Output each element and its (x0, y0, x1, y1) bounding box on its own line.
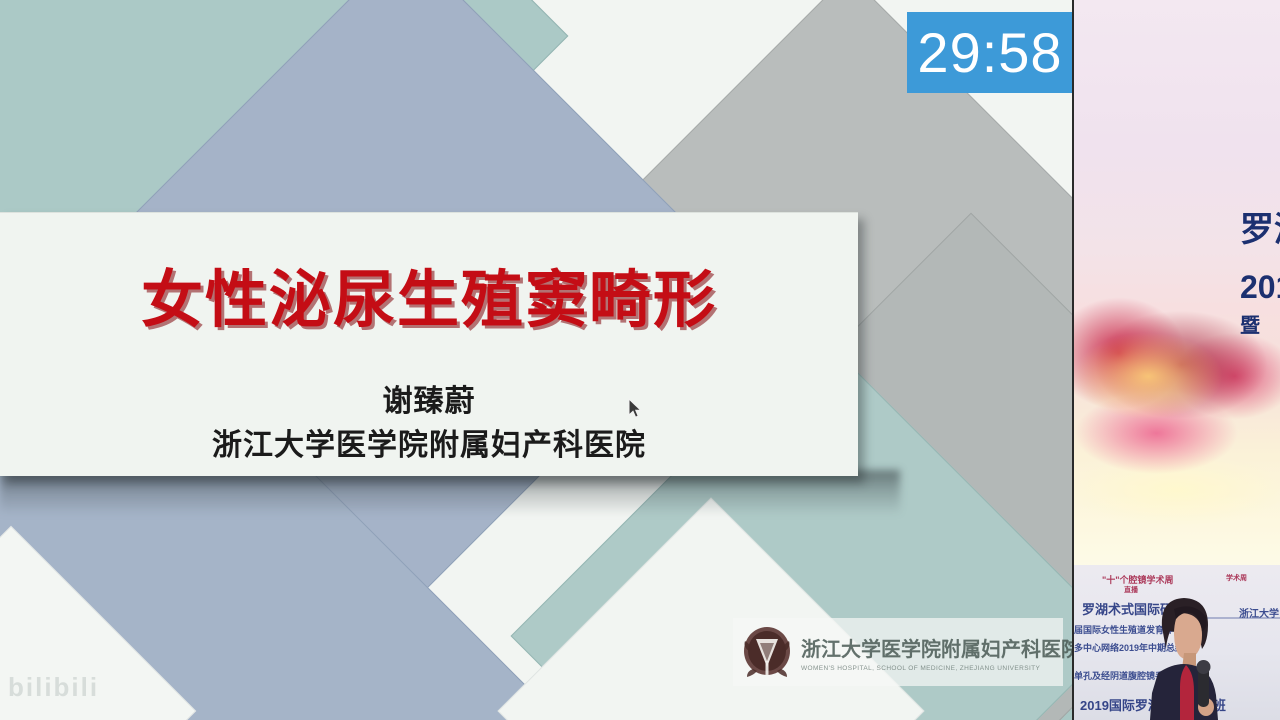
countdown-timer-value: 29:58 (917, 20, 1062, 85)
poster-title-main: 罗湖 (1240, 210, 1280, 250)
presentation-slide: 女性泌尿生殖窦畸形 谢臻蔚 浙江大学医学院附属妇产科医院 (0, 0, 1072, 720)
hospital-logo-badge: 浙江大学医学院附属妇产科医院 WOMEN'S HOSPITAL, SCHOOL … (733, 618, 1063, 686)
presenter-name-text: 谢臻蔚 (0, 376, 858, 420)
countdown-timer-badge: 29:58 (907, 12, 1073, 93)
video-player-screen: 女性泌尿生殖窦畸形 谢臻蔚 浙江大学医学院附属妇产科医院 (0, 0, 1280, 720)
presenter-with-microphone-icon (1136, 591, 1228, 720)
hospital-name-cn: 浙江大学医学院附属妇产科医院 (801, 633, 1072, 662)
presenter-affiliation-text: 浙江大学医学院附属妇产科医院 (0, 420, 858, 464)
hospital-logo-text: 浙江大学医学院附属妇产科医院 WOMEN'S HOSPITAL, SCHOOL … (801, 633, 1072, 672)
slide-shadow-band (0, 470, 900, 514)
speaker-video-panel[interactable]: 罗湖 2019 暨 "十"个腔镜学术周 直播 罗湖术式国际研讨班 届国际女性生殖… (1072, 0, 1280, 720)
slide-title-card: 女性泌尿生殖窦畸形 谢臻蔚 浙江大学医学院附属妇产科医院 (0, 212, 858, 476)
poster-title-sub: 暨 (1240, 314, 1280, 338)
slide-title-text: 女性泌尿生殖窦畸形 (0, 249, 858, 339)
live-board-text-8: 浙江大学 (1239, 605, 1279, 620)
hospital-name-en: WOMEN'S HOSPITAL, SCHOOL OF MEDICINE, ZH… (801, 665, 1072, 672)
live-board-text-9: 学术周 (1226, 573, 1247, 583)
poster-title-block: 罗湖 2019 暨 (1240, 210, 1280, 338)
poster-title-year: 2019 (1240, 268, 1280, 306)
channel-watermark: bilibili (8, 672, 99, 703)
shield-emblem-icon (741, 625, 793, 679)
live-camera-feed[interactable]: "十"个腔镜学术周 直播 罗湖术式国际研讨班 届国际女性生殖道发育异常 多中心网… (1074, 565, 1280, 720)
